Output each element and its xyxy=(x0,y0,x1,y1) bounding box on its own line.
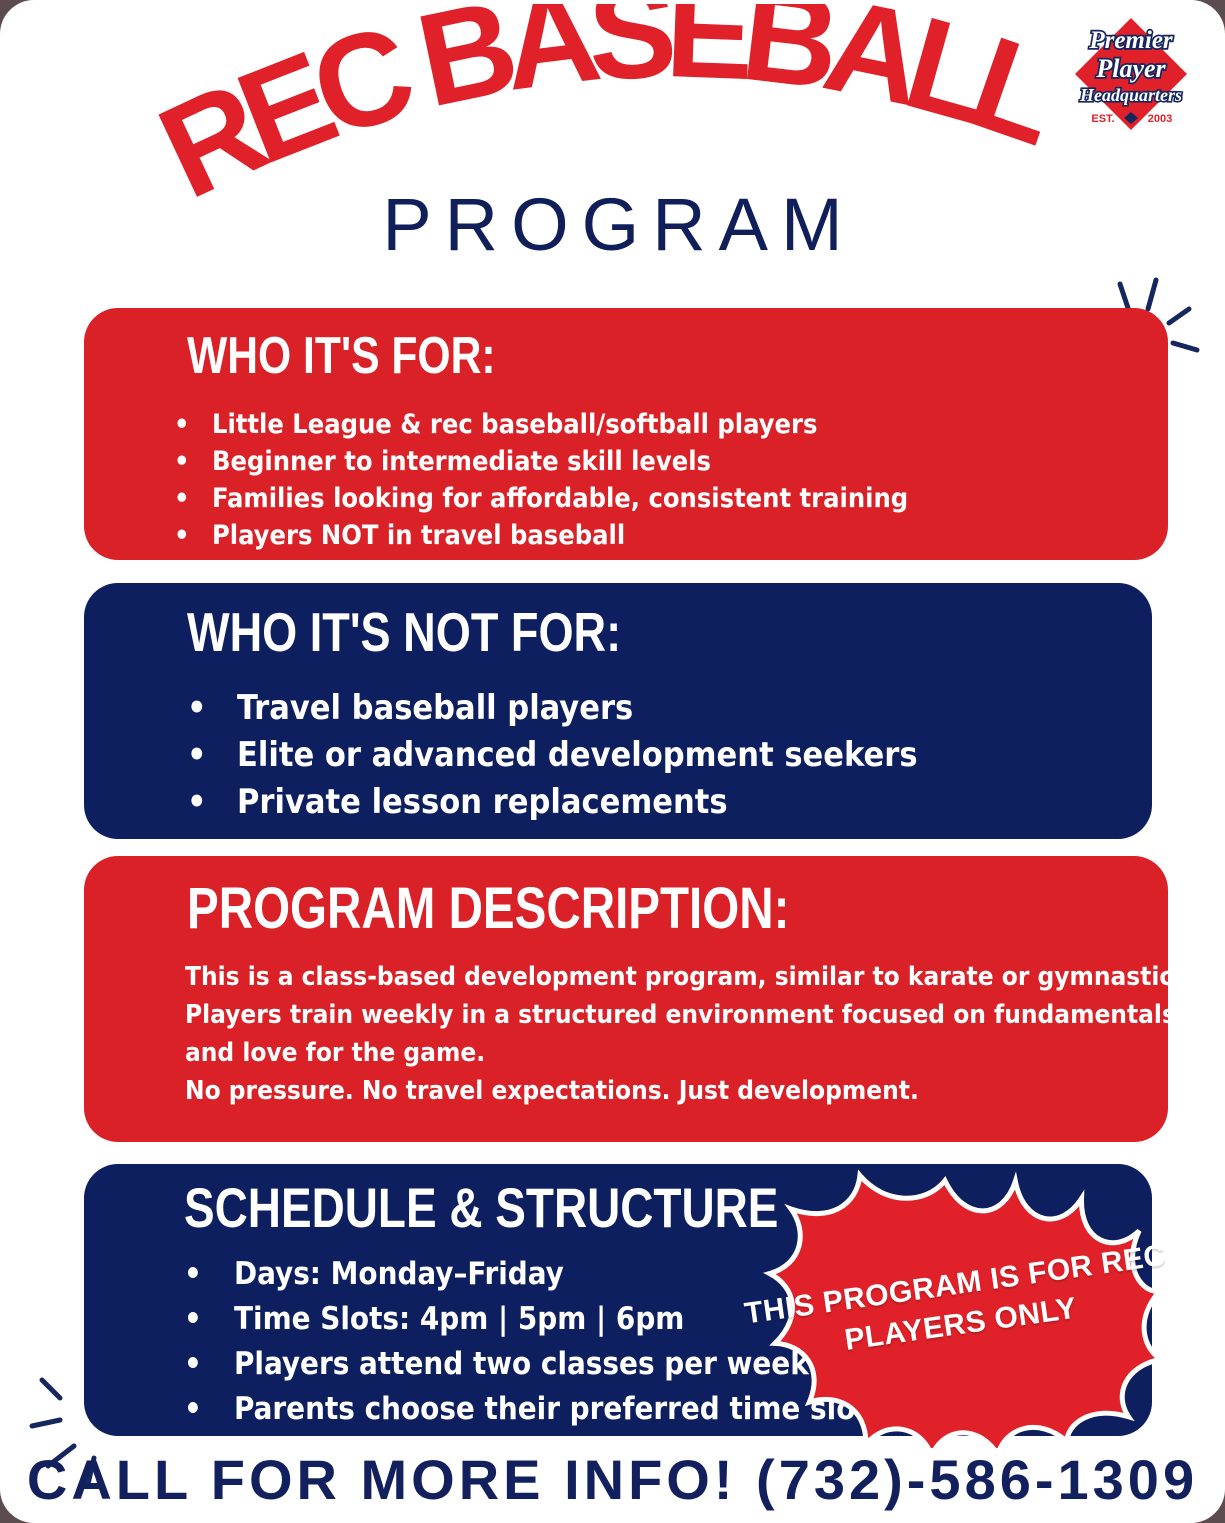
bullet-icon: • xyxy=(174,480,190,517)
page-subtitle: PROGRAM xyxy=(0,188,1225,262)
list-item-label: Little League & rec baseball/softball pl… xyxy=(212,406,817,443)
logo-est-right: 2003 xyxy=(1148,113,1172,125)
list-item-label: Travel baseball players xyxy=(237,685,633,732)
description-line: Players train weekly in a structured env… xyxy=(185,996,1225,1034)
bullet-icon: • xyxy=(187,732,207,779)
starburst-badge: THIS PROGRAM IS FOR REC PLAYERS ONLY xyxy=(756,1162,1160,1448)
list-item-label: Elite or advanced development seekers xyxy=(237,732,918,779)
who-its-for-list: • Little League & rec baseball/softball … xyxy=(174,406,908,554)
section-heading: PROGRAM DESCRIPTION: xyxy=(187,880,789,938)
section-who-its-for: WHO IT'S FOR: • Little League & rec base… xyxy=(84,308,1168,560)
list-item-label: Days: Monday–Friday xyxy=(234,1252,564,1297)
bullet-icon: • xyxy=(187,685,207,732)
bullet-icon: • xyxy=(184,1342,202,1387)
section-heading: SCHEDULE & STRUCTURE xyxy=(184,1180,778,1236)
logo-line2: Player xyxy=(1095,54,1166,83)
flyer-page: REC BASEBALL PROGRAM Premier Player Head… xyxy=(0,0,1225,1523)
list-item: • Private lesson replacements xyxy=(187,779,918,826)
logo-est-left: EST. xyxy=(1091,113,1114,125)
section-heading: WHO IT'S NOT FOR: xyxy=(187,605,621,660)
description-line: This is a class-based development progra… xyxy=(185,958,1225,996)
bullet-icon: • xyxy=(174,443,190,480)
list-item: • Elite or advanced development seekers xyxy=(187,732,918,779)
section-heading: WHO IT'S FOR: xyxy=(187,330,496,382)
bullet-icon: • xyxy=(184,1252,202,1297)
section-program-description: PROGRAM DESCRIPTION: This is a class-bas… xyxy=(84,856,1168,1142)
bullet-icon: • xyxy=(174,517,190,554)
list-item: • Beginner to intermediate skill levels xyxy=(174,443,908,480)
list-item: • Travel baseball players xyxy=(187,685,918,732)
list-item-label: Families looking for affordable, consist… xyxy=(212,480,908,517)
description-line: No pressure. No travel expectations. Jus… xyxy=(185,1072,1225,1110)
bullet-icon: • xyxy=(187,779,207,826)
logo-line3: Headquarters xyxy=(1079,85,1182,105)
bullet-icon: • xyxy=(184,1387,202,1432)
program-description-body: This is a class-based development progra… xyxy=(185,958,1225,1110)
list-item: • Families looking for affordable, consi… xyxy=(174,480,908,517)
call-for-info: CALL FOR MORE INFO! (732)-586-1309 xyxy=(0,1447,1225,1512)
list-item: • Players NOT in travel baseball xyxy=(174,517,908,554)
bullet-icon: • xyxy=(174,406,190,443)
list-item-label: Players NOT in travel baseball xyxy=(212,517,625,554)
section-who-its-not-for: WHO IT'S NOT FOR: • Travel baseball play… xyxy=(84,583,1152,839)
list-item-label: Private lesson replacements xyxy=(237,779,728,826)
list-item-label: Time Slots: 4pm | 5pm | 6pm xyxy=(234,1297,684,1342)
starburst-shape-icon xyxy=(758,1162,1160,1448)
list-item-label: Players attend two classes per week xyxy=(234,1342,809,1387)
who-its-not-for-list: • Travel baseball players • Elite or adv… xyxy=(187,685,918,826)
list-item-label: Beginner to intermediate skill levels xyxy=(212,443,711,480)
logo-line1: Premier xyxy=(1088,27,1173,54)
description-line: and love for the game. xyxy=(185,1034,1225,1072)
brand-logo: Premier Player Headquarters EST. 2003 xyxy=(1061,4,1201,144)
flyer-header: REC BASEBALL PROGRAM Premier Player Head… xyxy=(0,0,1225,296)
bullet-icon: • xyxy=(184,1297,202,1342)
list-item: • Little League & rec baseball/softball … xyxy=(174,406,908,443)
